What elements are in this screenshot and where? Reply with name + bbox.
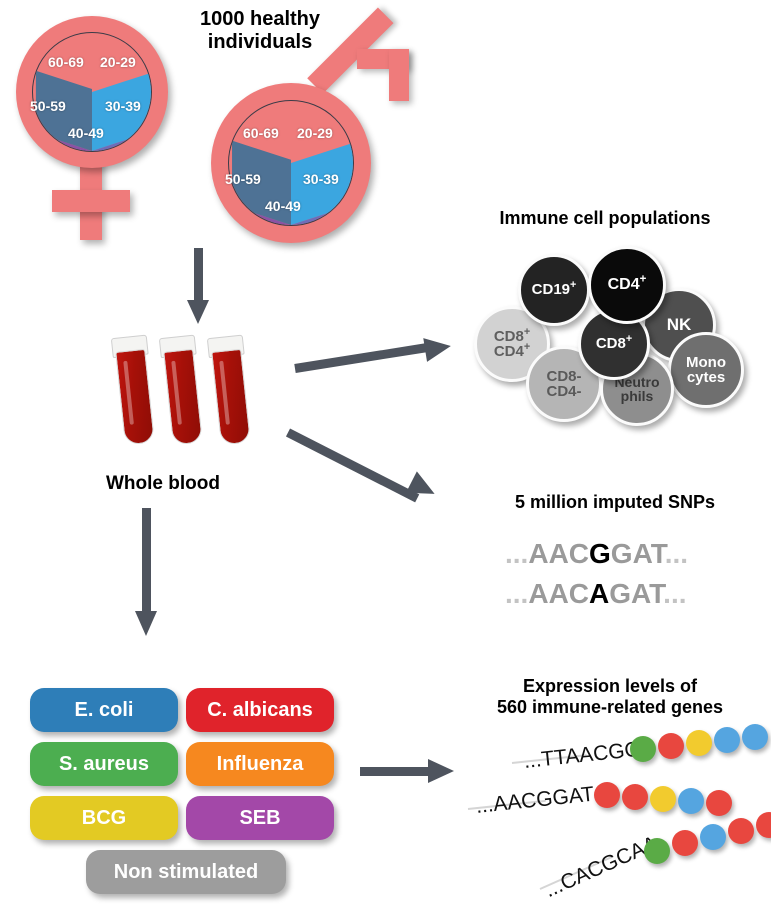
expression-dot — [678, 788, 704, 814]
immune-cell-cluster: CD8+ CD4+ CD19+ CD4+ NK CD8+ Mono cytes … — [470, 240, 760, 425]
page-title-line1: 1000 healthy — [160, 8, 360, 31]
expression-title-line2: 560 immune-related genes — [455, 697, 765, 718]
snp-suffix: GAT — [609, 578, 663, 609]
stimulus-e-coli[interactable]: E. coli — [30, 688, 178, 732]
arrow-blood-to-snps — [288, 428, 463, 538]
male-age-label-40-49: 40-49 — [265, 198, 301, 214]
male-age-label-60-69: 60-69 — [243, 125, 279, 141]
arrow-stimuli-to-expression — [360, 758, 470, 788]
cell-label-line1: CD8- — [546, 369, 581, 384]
stimulus-label: E. coli — [75, 699, 134, 722]
arrow-head — [135, 611, 157, 636]
arrow-shaft — [194, 248, 203, 304]
arrow-shaft — [286, 428, 419, 502]
male-symbol: 20-29 30-39 40-49 50-59 60-69 — [205, 55, 410, 240]
strand-sequence: ...TTAACGG — [523, 738, 642, 774]
female-age-label-50-59: 50-59 — [30, 98, 66, 114]
female-age-label-60-69: 60-69 — [48, 54, 84, 70]
snp-sequence-1: ...AACGGAT... — [505, 538, 688, 570]
snp-variant-base: G — [589, 538, 611, 569]
cell-label-line2: cytes — [687, 370, 725, 385]
stimulus-label: SEB — [239, 807, 280, 830]
stimulus-label: C. albicans — [207, 699, 313, 722]
stimulus-influenza[interactable]: Influenza — [186, 742, 334, 786]
snp-prefix: AAC — [528, 578, 589, 609]
expression-dot — [650, 786, 676, 812]
cell-label: CD4+ — [608, 277, 647, 293]
tube-body — [115, 349, 155, 446]
whole-blood-label: Whole blood — [88, 473, 238, 495]
cell-label-line2: CD4+ — [494, 344, 530, 359]
expression-dot — [658, 733, 684, 759]
female-age-label-40-49: 40-49 — [68, 125, 104, 141]
expression-strand-1: ...TTAACGG — [512, 740, 771, 790]
blood-tubes — [110, 336, 290, 456]
page-title-line2: individuals — [160, 31, 360, 54]
expression-title: Expression levels of 560 immune-related … — [455, 676, 765, 717]
male-age-label-20-29: 20-29 — [297, 125, 333, 141]
cell-label-line2: phils — [621, 389, 654, 403]
cell-label-line1: Mono — [686, 355, 726, 370]
arrow-shaft — [142, 508, 151, 616]
female-crossbar — [52, 190, 130, 212]
tube-body — [163, 349, 203, 446]
expression-dot — [728, 818, 754, 844]
strand-sequence: ...AACGGAT — [475, 783, 595, 819]
cell-monocytes[interactable]: Mono cytes — [668, 332, 744, 408]
snp-sequence-2: ...AACAGAT... — [505, 578, 687, 610]
male-age-label-30-39: 30-39 — [303, 171, 339, 187]
expression-strand-3: ...CACGCAA — [540, 830, 771, 890]
cell-cd4pos[interactable]: CD4+ — [588, 246, 666, 324]
arrow-head — [423, 334, 452, 362]
expression-dot — [742, 724, 768, 750]
expression-dot — [756, 812, 771, 838]
expression-dot — [622, 784, 648, 810]
arrow-blood-to-immune — [295, 330, 460, 380]
expression-dot — [630, 736, 656, 762]
cell-label: CD19+ — [532, 282, 577, 297]
female-age-label-30-39: 30-39 — [105, 98, 141, 114]
expression-dot — [594, 782, 620, 808]
stimulus-label: Influenza — [217, 753, 304, 776]
arrow-head — [428, 759, 454, 783]
stimulus-label: S. aureus — [59, 753, 149, 776]
expression-dot — [706, 790, 732, 816]
page-title: 1000 healthy individuals — [160, 8, 360, 54]
strand-sequence: ...CACGCAA — [541, 832, 662, 903]
stimulus-bcg[interactable]: BCG — [30, 796, 178, 840]
stimulus-s-aureus[interactable]: S. aureus — [30, 742, 178, 786]
cell-label: NK — [667, 316, 692, 333]
expression-dot — [700, 824, 726, 850]
cell-label: CD8+ — [596, 336, 632, 351]
expression-dot — [714, 727, 740, 753]
snp-trail: ... — [665, 538, 688, 569]
stimulus-label: BCG — [82, 807, 126, 830]
arrow-shaft — [360, 767, 432, 776]
snp-variant-base: A — [589, 578, 609, 609]
expression-dot — [644, 838, 670, 864]
female-age-label-20-29: 20-29 — [100, 54, 136, 70]
cell-label-line2: CD4- — [546, 384, 581, 399]
snp-lead: ... — [505, 578, 528, 609]
snp-trail: ... — [663, 578, 686, 609]
male-arrow-head-bar2 — [389, 49, 409, 101]
expression-dot — [672, 830, 698, 856]
tube-body — [211, 349, 251, 446]
cell-cd19pos[interactable]: CD19+ — [518, 254, 590, 326]
snps-title: 5 million imputed SNPs — [470, 492, 760, 513]
expression-title-line1: Expression levels of — [455, 676, 765, 697]
male-age-label-50-59: 50-59 — [225, 171, 261, 187]
snp-suffix: GAT — [611, 538, 665, 569]
stimulus-seb[interactable]: SEB — [186, 796, 334, 840]
arrow-shaft — [294, 343, 429, 373]
snp-lead: ... — [505, 538, 528, 569]
snp-prefix: AAC — [528, 538, 589, 569]
arrow-cohort-to-blood — [186, 248, 210, 326]
female-symbol: 20-29 30-39 40-49 50-59 60-69 — [10, 10, 190, 240]
immune-title: Immune cell populations — [455, 208, 755, 229]
stimulus-label: Non stimulated — [114, 861, 258, 884]
arrow-blood-to-stimuli — [134, 508, 160, 638]
stimulus-non-stimulated[interactable]: Non stimulated — [86, 850, 286, 894]
arrow-head — [187, 300, 209, 324]
expression-dot — [686, 730, 712, 756]
stimulus-c-albicans[interactable]: C. albicans — [186, 688, 334, 732]
